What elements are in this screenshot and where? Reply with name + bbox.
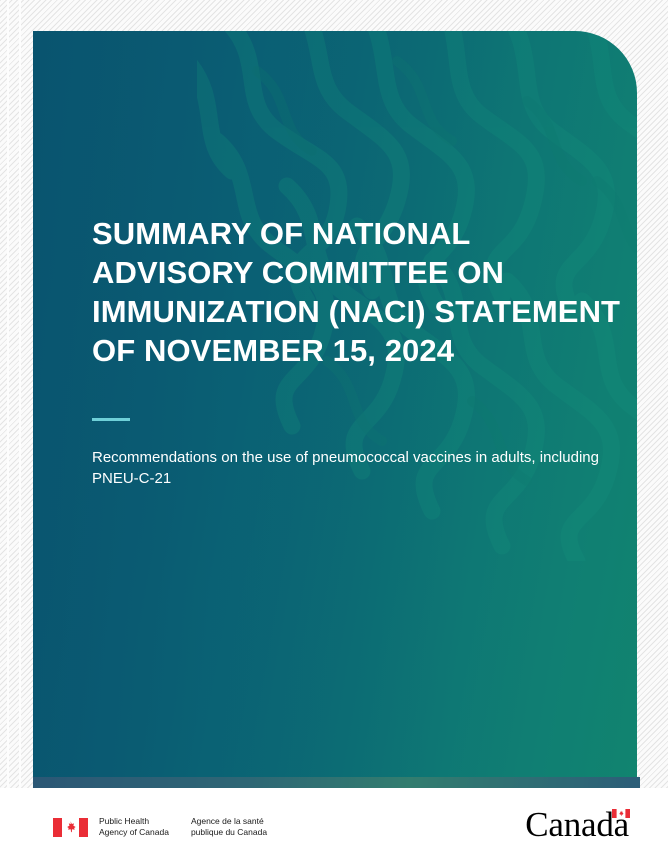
- paper-seam-left-inner: [19, 0, 21, 800]
- canada-flag-icon: [53, 818, 88, 837]
- title-divider-rule: [92, 418, 130, 421]
- page-footer: Public Health Agency of Canada Agence de…: [0, 788, 668, 864]
- paper-seam-left-outer: [7, 0, 9, 800]
- panel-foot-band: [33, 777, 640, 788]
- page-title: SUMMARY OF NATIONAL ADVISORY COMMITTEE O…: [92, 214, 622, 370]
- signature-wordmark-text: Public Health Agency of Canada Agence de…: [99, 816, 267, 838]
- cover-text-block: SUMMARY OF NATIONAL ADVISORY COMMITTEE O…: [92, 214, 622, 490]
- canada-wordmark: Canada: [525, 807, 630, 842]
- canada-wordmark-flag-icon: [612, 809, 630, 818]
- cover-page: SUMMARY OF NATIONAL ADVISORY COMMITTEE O…: [0, 0, 668, 864]
- signature-english: Public Health Agency of Canada: [99, 816, 169, 838]
- page-subtitle: Recommendations on the use of pneumococc…: [92, 447, 622, 490]
- signature-french: Agence de la santé publique du Canada: [191, 816, 267, 838]
- phac-signature: Public Health Agency of Canada Agence de…: [53, 816, 267, 838]
